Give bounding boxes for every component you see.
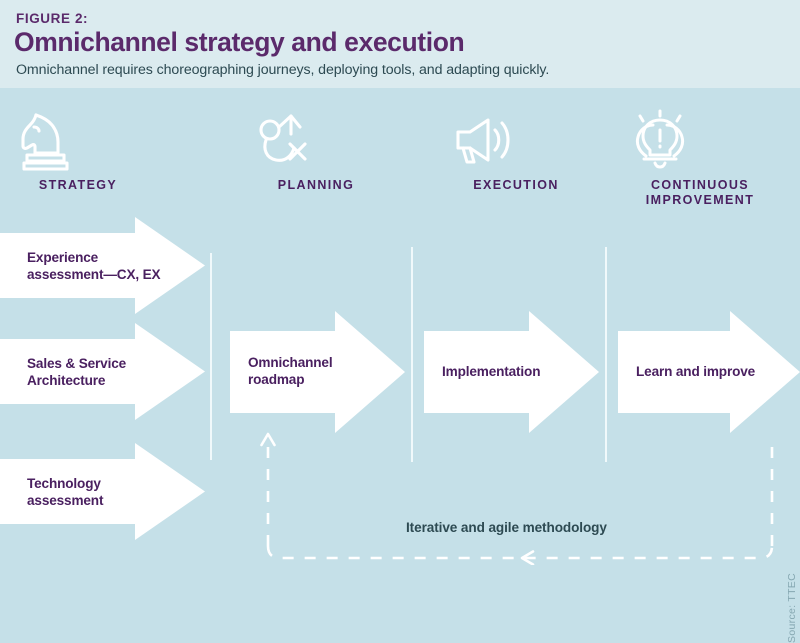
flow-arrow-roadmap: Omnichannel roadmap (230, 311, 405, 433)
strategy-arrow-2: Sales & Service Architecture (0, 323, 205, 420)
stage-label: CONTINUOUS IMPROVEMENT (620, 178, 780, 208)
source-credit: Source: TTEC (786, 573, 798, 643)
arrow-label: Implementation (442, 363, 540, 380)
arrow-label: Learn and improve (636, 363, 755, 380)
arrow-label: Sales & Service Architecture (27, 355, 126, 389)
arrow-label: Experience assessment—CX, EX (27, 249, 160, 283)
stage-label: EXECUTION (450, 178, 582, 193)
figure-subtitle: Omnichannel requires choreographing jour… (16, 62, 549, 78)
stage-strategy: STRATEGY (12, 108, 144, 193)
strategy-arrow-1: Experience assessment—CX, EX (0, 217, 205, 314)
megaphone-icon (450, 108, 582, 174)
stage-label: PLANNING (250, 178, 382, 193)
stage-execution: EXECUTION (450, 108, 582, 193)
iterative-loop-label: Iterative and agile methodology (406, 520, 607, 535)
figure-header: FIGURE 2: Omnichannel strategy and execu… (0, 0, 800, 88)
flow-arrow-implementation: Implementation (424, 311, 599, 433)
strategy-arrow-3: Technology assessment (0, 443, 205, 540)
chess-knight-icon (12, 108, 144, 174)
section-divider-1 (210, 253, 212, 460)
stage-continuous-improvement: CONTINUOUS IMPROVEMENT (620, 108, 780, 208)
flow-arrow-learn-improve: Learn and improve (618, 311, 800, 433)
figure-root: FIGURE 2: Omnichannel strategy and execu… (0, 0, 800, 581)
page-title: Omnichannel strategy and execution (14, 27, 464, 58)
stage-label: STRATEGY (12, 178, 144, 193)
figure-number: FIGURE 2: (16, 11, 88, 26)
stage-planning: PLANNING (250, 108, 382, 193)
lightbulb-idea-icon (620, 108, 780, 174)
arrow-label: Technology assessment (27, 475, 103, 509)
arrow-label: Omnichannel roadmap (248, 354, 332, 388)
play-strategy-diagram-icon (250, 108, 382, 174)
iterative-loop (250, 420, 790, 565)
